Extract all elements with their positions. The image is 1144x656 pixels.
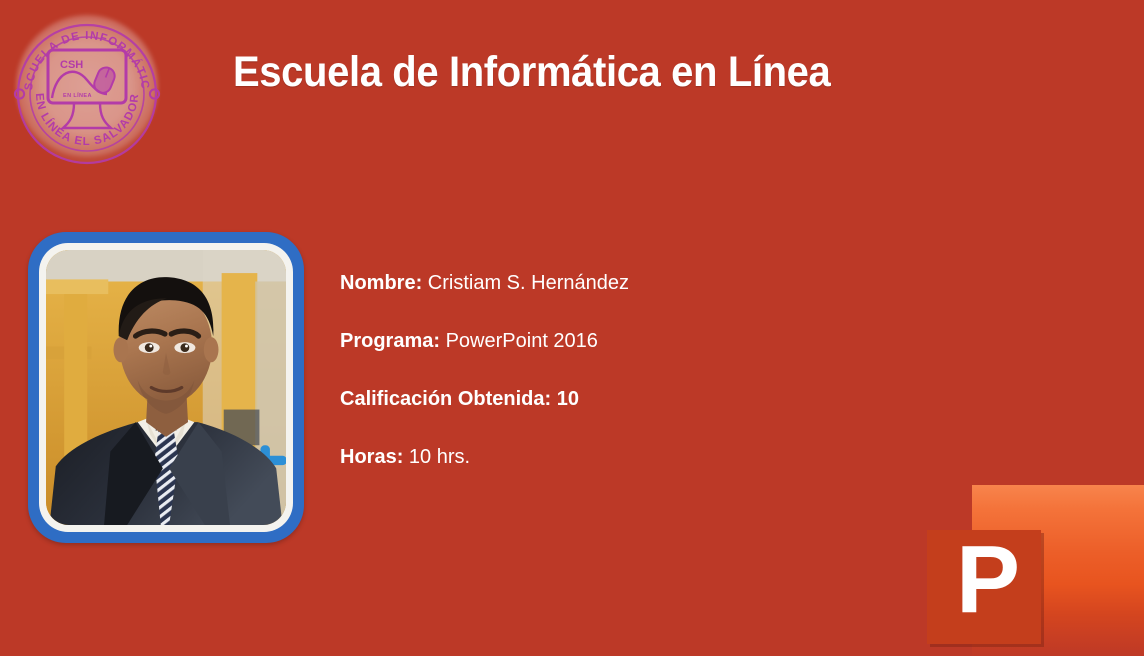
portrait-inner-border	[39, 243, 293, 532]
powerpoint-letter: P	[956, 526, 1020, 633]
info-label-programa: Programa:	[340, 330, 440, 352]
portrait-illustration	[46, 250, 286, 525]
info-row-nombre: Nombre: Cristiam S. Hernández	[340, 272, 629, 294]
powerpoint-logo: P	[900, 440, 1144, 656]
powerpoint-logo-graphic: P	[900, 440, 1144, 656]
info-row-programa: Programa: PowerPoint 2016	[340, 330, 629, 352]
certificate-slide: CSH EN LÍNEA ESCUELA DE INFORMÁTICA EN L…	[0, 0, 1144, 656]
portrait-photo	[46, 250, 286, 525]
info-value-programa: PowerPoint 2016	[446, 330, 598, 352]
logo-monitor-text: CSH	[60, 59, 83, 71]
portrait-frame	[28, 232, 304, 543]
info-block: Nombre: Cristiam S. Hernández Programa: …	[340, 272, 629, 468]
info-row-horas: Horas: 10 hrs.	[340, 446, 629, 468]
school-logo: CSH EN LÍNEA ESCUELA DE INFORMÁTICA EN L…	[8, 6, 166, 166]
info-label-nombre: Nombre:	[340, 272, 422, 294]
page-title: Escuela de Informática en Línea	[233, 48, 830, 97]
school-logo-graphic: CSH EN LÍNEA ESCUELA DE INFORMÁTICA EN L…	[8, 6, 166, 166]
info-row-calificacion: Calificación Obtenida: 10	[340, 388, 629, 410]
info-value-horas: 10 hrs.	[409, 446, 470, 468]
info-label-calificacion: Calificación Obtenida:	[340, 388, 551, 410]
info-value-calificacion: 10	[557, 388, 579, 410]
logo-monitor-subtext: EN LÍNEA	[63, 91, 92, 99]
info-value-nombre: Cristiam S. Hernández	[428, 272, 629, 294]
info-label-horas: Horas:	[340, 446, 403, 468]
